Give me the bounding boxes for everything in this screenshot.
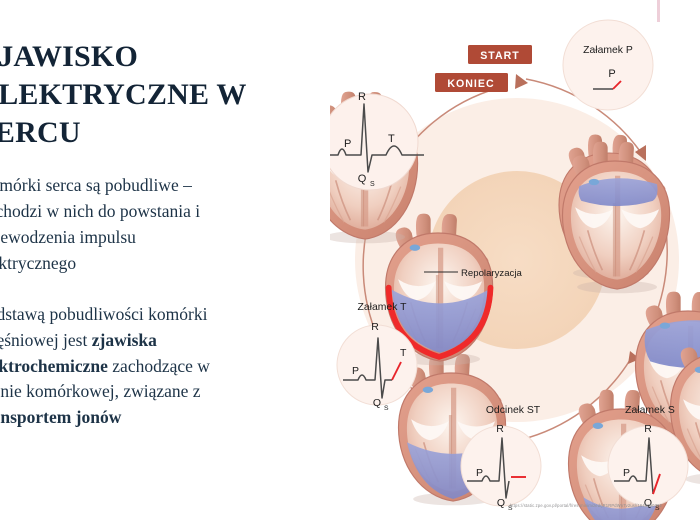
ecg-label-p: P (608, 68, 615, 80)
badge-koniec: KONIEC (435, 73, 508, 92)
cardiac-cycle-diagram: Repolaryzacja START KONIEC P R Q S T (330, 0, 700, 520)
ecg-label-p: P (623, 467, 630, 479)
text-column: ZJAWISKO ELEKTRYCZNE W SERCU Komórki ser… (0, 38, 298, 457)
ecg-caption: Załamek T (358, 302, 408, 313)
page-title: ZJAWISKO ELEKTRYCZNE W SERCU (0, 38, 298, 151)
ecg-label-t: T (388, 133, 395, 145)
ecg-label-q: Q (358, 173, 367, 185)
ecg-label-r: R (371, 321, 379, 333)
ecg-caption: Załamek S (625, 405, 675, 416)
ecg-label-s: S (370, 181, 375, 188)
source-url: https://static.zpe.gov.pl/portal/f/res-m… (472, 503, 700, 508)
badge-start-label: START (480, 50, 520, 62)
body-paragraph-2: Podstawą pobudliwości komórki mięśniowej… (0, 302, 298, 431)
ecg-label-q: Q (373, 397, 381, 409)
ecg-label-t: T (400, 347, 407, 359)
ecg-label-s: S (384, 405, 389, 412)
ecg-label-r: R (496, 423, 504, 435)
ecg-label-p: P (352, 365, 359, 377)
repolarization-callout-label: Repolaryzacja (461, 268, 522, 279)
badge-koniec-label: KONIEC (447, 78, 494, 90)
ecg-caption: Odcinek ST (486, 405, 541, 416)
ecg-label-r: R (358, 91, 366, 103)
ecg-label-p: P (476, 467, 483, 479)
ecg-label-r: R (644, 423, 652, 435)
cropped-vessel-sliver (657, 0, 660, 22)
slide-canvas: ZJAWISKO ELEKTRYCZNE W SERCU Komórki ser… (0, 0, 700, 520)
ecg-panel-zalamek-p: Załamek P P (563, 20, 653, 110)
body-paragraph-1: Komórki serca są pobudliwe – dochodzi w … (0, 173, 298, 276)
ecg-caption: Załamek P (583, 45, 633, 56)
paragraph-2-bold-2: transportem jonów (0, 407, 121, 427)
ecg-label-p: P (344, 138, 351, 150)
badge-start: START (468, 45, 532, 64)
